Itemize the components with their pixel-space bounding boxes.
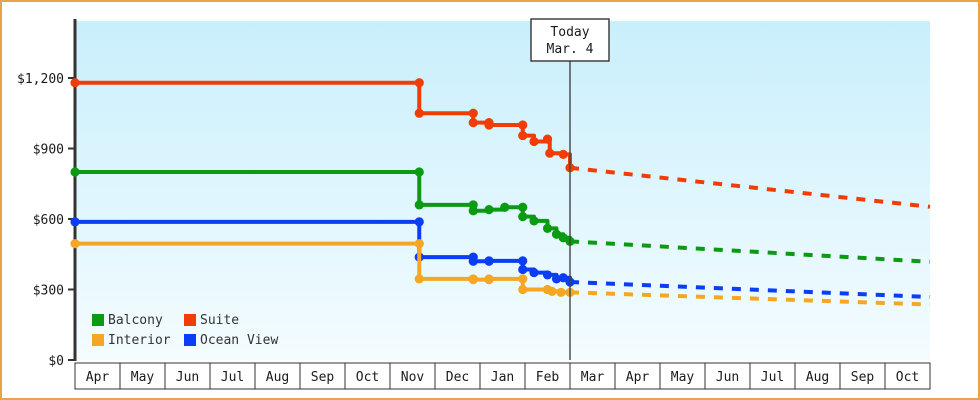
legend-item-suite[interactable]: Suite (184, 313, 239, 328)
month-cell-aug-16[interactable]: Aug (795, 363, 840, 389)
data-point (518, 285, 527, 294)
data-point (415, 239, 424, 248)
month-cell-jul-3[interactable]: Jul (210, 363, 255, 389)
data-point (518, 120, 527, 129)
y-tick-label: $1,200 (17, 72, 64, 87)
month-cell-label: May (671, 370, 695, 385)
data-point (556, 288, 565, 297)
month-cell-apr-0[interactable]: Apr (75, 363, 120, 389)
month-cell-label: Sep (851, 370, 875, 385)
data-point (469, 275, 478, 284)
month-cell-dec-8[interactable]: Dec (435, 363, 480, 389)
data-point (415, 78, 424, 87)
month-cell-label: Jul (761, 370, 784, 385)
legend-swatch (92, 314, 104, 326)
data-point (415, 109, 424, 118)
month-cell-label: Mar (581, 370, 605, 385)
legend-label: Balcony (108, 313, 163, 328)
data-point (415, 217, 424, 226)
month-cell-label: Jul (221, 370, 244, 385)
month-cell-label: Aug (266, 370, 289, 385)
data-point (484, 205, 493, 214)
y-tick-label: $600 (33, 213, 64, 228)
data-point (518, 131, 527, 140)
data-point (518, 256, 527, 265)
legend-swatch (184, 334, 196, 346)
data-point (484, 274, 493, 283)
data-point (543, 135, 552, 144)
data-point (70, 217, 79, 226)
y-tick-label: $0 (48, 354, 64, 369)
legend-swatch (184, 314, 196, 326)
data-point (518, 274, 527, 283)
data-point (469, 206, 478, 215)
month-cell-label: Apr (86, 370, 110, 385)
data-point (70, 78, 79, 87)
today-label-line2: Mar. 4 (547, 42, 594, 57)
month-cell-oct-18[interactable]: Oct (885, 363, 930, 389)
y-axis-labels: $0$300$600$900$1,200 (17, 72, 64, 369)
data-point (518, 265, 527, 274)
legend-item-balcony[interactable]: Balcony (92, 313, 163, 328)
y-tick-label: $300 (33, 284, 64, 299)
data-point (500, 203, 509, 212)
month-cell-label: Oct (356, 370, 379, 385)
data-point (529, 268, 538, 277)
month-cell-sep-17[interactable]: Sep (840, 363, 885, 389)
month-cell-mar-11[interactable]: Mar (570, 363, 615, 389)
data-point (415, 274, 424, 283)
legend-item-interior[interactable]: Interior (92, 333, 171, 348)
month-cell-sep-5[interactable]: Sep (300, 363, 345, 389)
legend-label: Suite (200, 313, 239, 328)
data-point (545, 149, 554, 158)
data-point (70, 167, 79, 176)
today-label-line1: Today (550, 25, 589, 40)
y-tick-label: $900 (33, 143, 64, 158)
month-cell-nov-7[interactable]: Nov (390, 363, 435, 389)
legend-swatch (92, 334, 104, 346)
month-cell-may-13[interactable]: May (660, 363, 705, 389)
data-point (547, 287, 556, 296)
month-cell-label: Feb (536, 370, 560, 385)
month-cell-label: Oct (896, 370, 919, 385)
month-cell-jan-9[interactable]: Jan (480, 363, 525, 389)
data-point (469, 257, 478, 266)
month-cell-jun-14[interactable]: Jun (705, 363, 750, 389)
month-cell-label: Nov (401, 370, 425, 385)
plot-background (75, 21, 930, 360)
month-cell-may-1[interactable]: May (120, 363, 165, 389)
month-cell-label: Jan (491, 370, 514, 385)
data-point (469, 109, 478, 118)
month-cell-aug-4[interactable]: Aug (255, 363, 300, 389)
legend-label: Ocean View (200, 333, 278, 348)
month-cell-oct-6[interactable]: Oct (345, 363, 390, 389)
price-trend-chart: $0$300$600$900$1,200 TodayMar. 4 Balcony… (2, 2, 978, 398)
x-axis-month-cells: AprMayJunJulAugSepOctNovDecJanFebMarAprM… (75, 363, 930, 389)
data-point (415, 167, 424, 176)
data-point (559, 150, 568, 159)
month-cell-apr-12[interactable]: Apr (615, 363, 660, 389)
data-point (70, 239, 79, 248)
data-point (518, 203, 527, 212)
month-cell-label: Aug (806, 370, 829, 385)
chart-canvas: $0$300$600$900$1,200 TodayMar. 4 Balcony… (2, 2, 978, 398)
month-cell-jul-15[interactable]: Jul (750, 363, 795, 389)
chart-page: $0$300$600$900$1,200 TodayMar. 4 Balcony… (0, 0, 980, 400)
month-cell-label: Dec (446, 370, 469, 385)
data-point (484, 256, 493, 265)
data-point (529, 216, 538, 225)
data-point (529, 137, 538, 146)
legend-label: Interior (108, 333, 171, 348)
month-cell-feb-10[interactable]: Feb (525, 363, 570, 389)
month-cell-label: Jun (716, 370, 739, 385)
data-point (543, 224, 552, 233)
month-cell-label: Apr (626, 370, 650, 385)
month-cell-label: Jun (176, 370, 199, 385)
data-point (543, 270, 552, 279)
data-point (518, 212, 527, 221)
month-cell-label: May (131, 370, 155, 385)
data-point (469, 118, 478, 127)
data-point (415, 200, 424, 209)
month-cell-label: Sep (311, 370, 335, 385)
month-cell-jun-2[interactable]: Jun (165, 363, 210, 389)
data-point (484, 120, 493, 129)
